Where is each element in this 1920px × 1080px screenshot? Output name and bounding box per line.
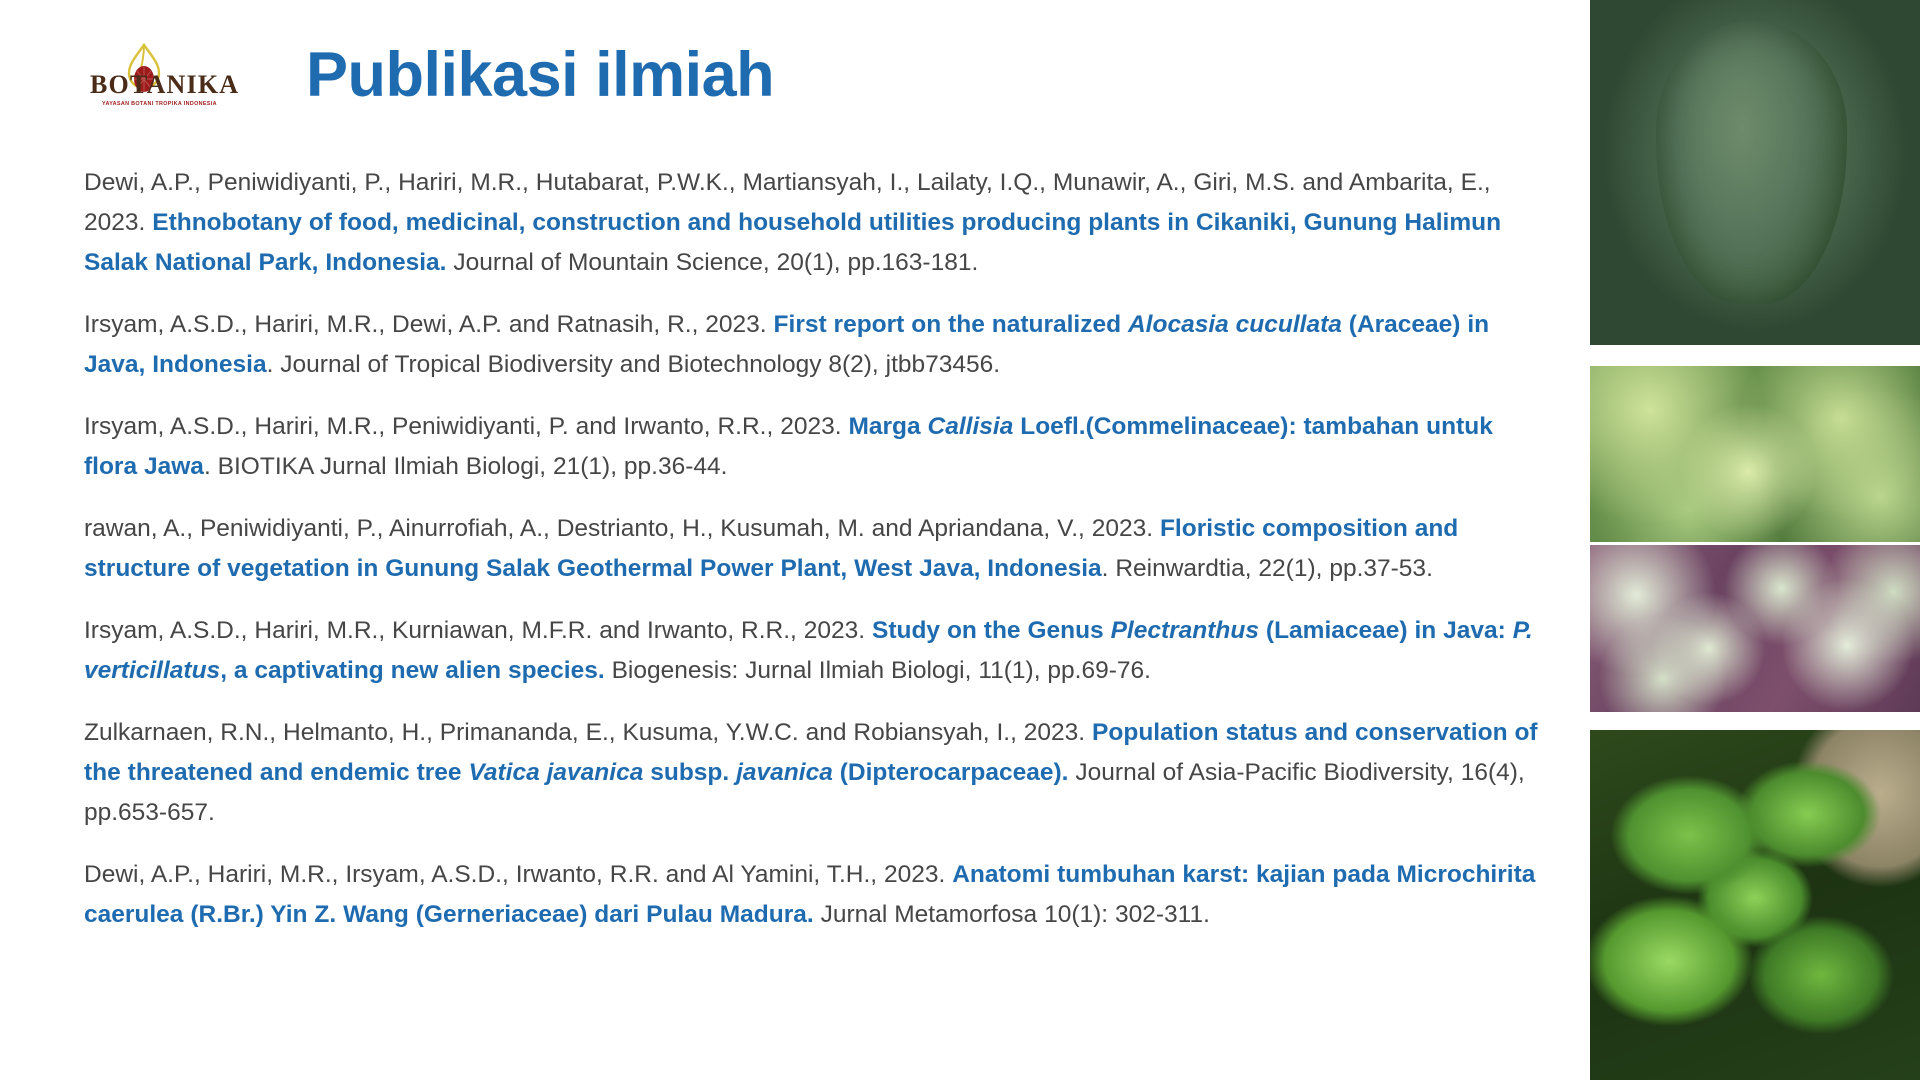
photo-plectranthus-image <box>1590 730 1920 1080</box>
reference-title-part: Marga <box>848 413 927 440</box>
reference-species-name: Alocasia cucullata <box>1128 311 1342 338</box>
photo-plectranthus <box>1590 730 1920 1080</box>
photo-callisia-repens-image <box>1590 545 1920 712</box>
reference-authors: Irsyam, A.S.D., Hariri, M.R., Dewi, A.P.… <box>84 311 767 338</box>
reference-title-part: subsp. <box>643 759 736 786</box>
list-item: rawan, A., Peniwidiyanti, P., Ainurrofia… <box>84 509 1550 589</box>
reference-source: Biogenesis: Jurnal Ilmiah Biologi, 11(1)… <box>605 657 1151 684</box>
logo-tagline: YAYASAN BOTANI TROPIKA INDONESIA <box>102 101 217 107</box>
photo-alocasia <box>1590 0 1920 345</box>
reference-title-part: , a captivating new alien species. <box>220 657 605 684</box>
botanika-logo: BOTANIKA YAYASAN BOTANI TROPIKA INDONESI… <box>82 42 262 108</box>
list-item: Dewi, A.P., Peniwidiyanti, P., Hariri, M… <box>84 163 1550 283</box>
reference-title-part: Study on the Genus <box>872 617 1111 644</box>
reference-authors: Irsyam, A.S.D., Hariri, M.R., Peniwidiya… <box>84 413 842 440</box>
reference-authors: Irsyam, A.S.D., Hariri, M.R., Kurniawan,… <box>84 617 865 644</box>
reference-source: . Journal of Tropical Biodiversity and B… <box>267 351 1001 378</box>
photo-callisia-repens <box>1590 545 1920 712</box>
reference-title-part: (Dipterocarpaceae). <box>833 759 1069 786</box>
page-title: Publikasi ilmiah <box>306 44 774 107</box>
list-item: Dewi, A.P., Hariri, M.R., Irsyam, A.S.D.… <box>84 855 1550 935</box>
slide-header: BOTANIKA YAYASAN BOTANI TROPIKA INDONESI… <box>82 42 774 108</box>
reference-authors: Dewi, A.P., Hariri, M.R., Irsyam, A.S.D.… <box>84 861 945 888</box>
list-item: Zulkarnaen, R.N., Helmanto, H., Primanan… <box>84 713 1550 833</box>
reference-species-name: Plectranthus <box>1111 617 1259 644</box>
reference-species-name: Callisia <box>928 413 1014 440</box>
reference-species-name: javanica <box>736 759 833 786</box>
photo-callisia <box>1590 366 1920 542</box>
logo-wordmark: BOTANIKA <box>90 70 239 99</box>
reference-authors: rawan, A., Peniwidiyanti, P., Ainurrofia… <box>84 515 1153 542</box>
reference-source: . Reinwardtia, 22(1), pp.37-53. <box>1102 555 1433 582</box>
reference-source: Journal of Mountain Science, 20(1), pp.1… <box>453 249 978 276</box>
photo-strip <box>1590 0 1920 1080</box>
list-item: Irsyam, A.S.D., Hariri, M.R., Kurniawan,… <box>84 611 1550 691</box>
reference-species-name: Vatica javanica <box>468 759 643 786</box>
reference-authors: Zulkarnaen, R.N., Helmanto, H., Primanan… <box>84 719 1085 746</box>
publication-list: Dewi, A.P., Peniwidiyanti, P., Hariri, M… <box>84 163 1550 935</box>
photo-alocasia-image <box>1590 0 1920 345</box>
reference-source: Jurnal Metamorfosa 10(1): 302-311. <box>814 901 1210 928</box>
reference-title-part: (Lamiaceae) in Java: <box>1259 617 1513 644</box>
list-item: Irsyam, A.S.D., Hariri, M.R., Peniwidiya… <box>84 407 1550 487</box>
list-item: Irsyam, A.S.D., Hariri, M.R., Dewi, A.P.… <box>84 305 1550 385</box>
photo-callisia-image <box>1590 366 1920 542</box>
slide-root: BOTANIKA YAYASAN BOTANI TROPIKA INDONESI… <box>0 0 1920 1080</box>
reference-source: . BIOTIKA Jurnal Ilmiah Biologi, 21(1), … <box>204 453 728 480</box>
reference-title-part: First report on the naturalized <box>774 311 1128 338</box>
